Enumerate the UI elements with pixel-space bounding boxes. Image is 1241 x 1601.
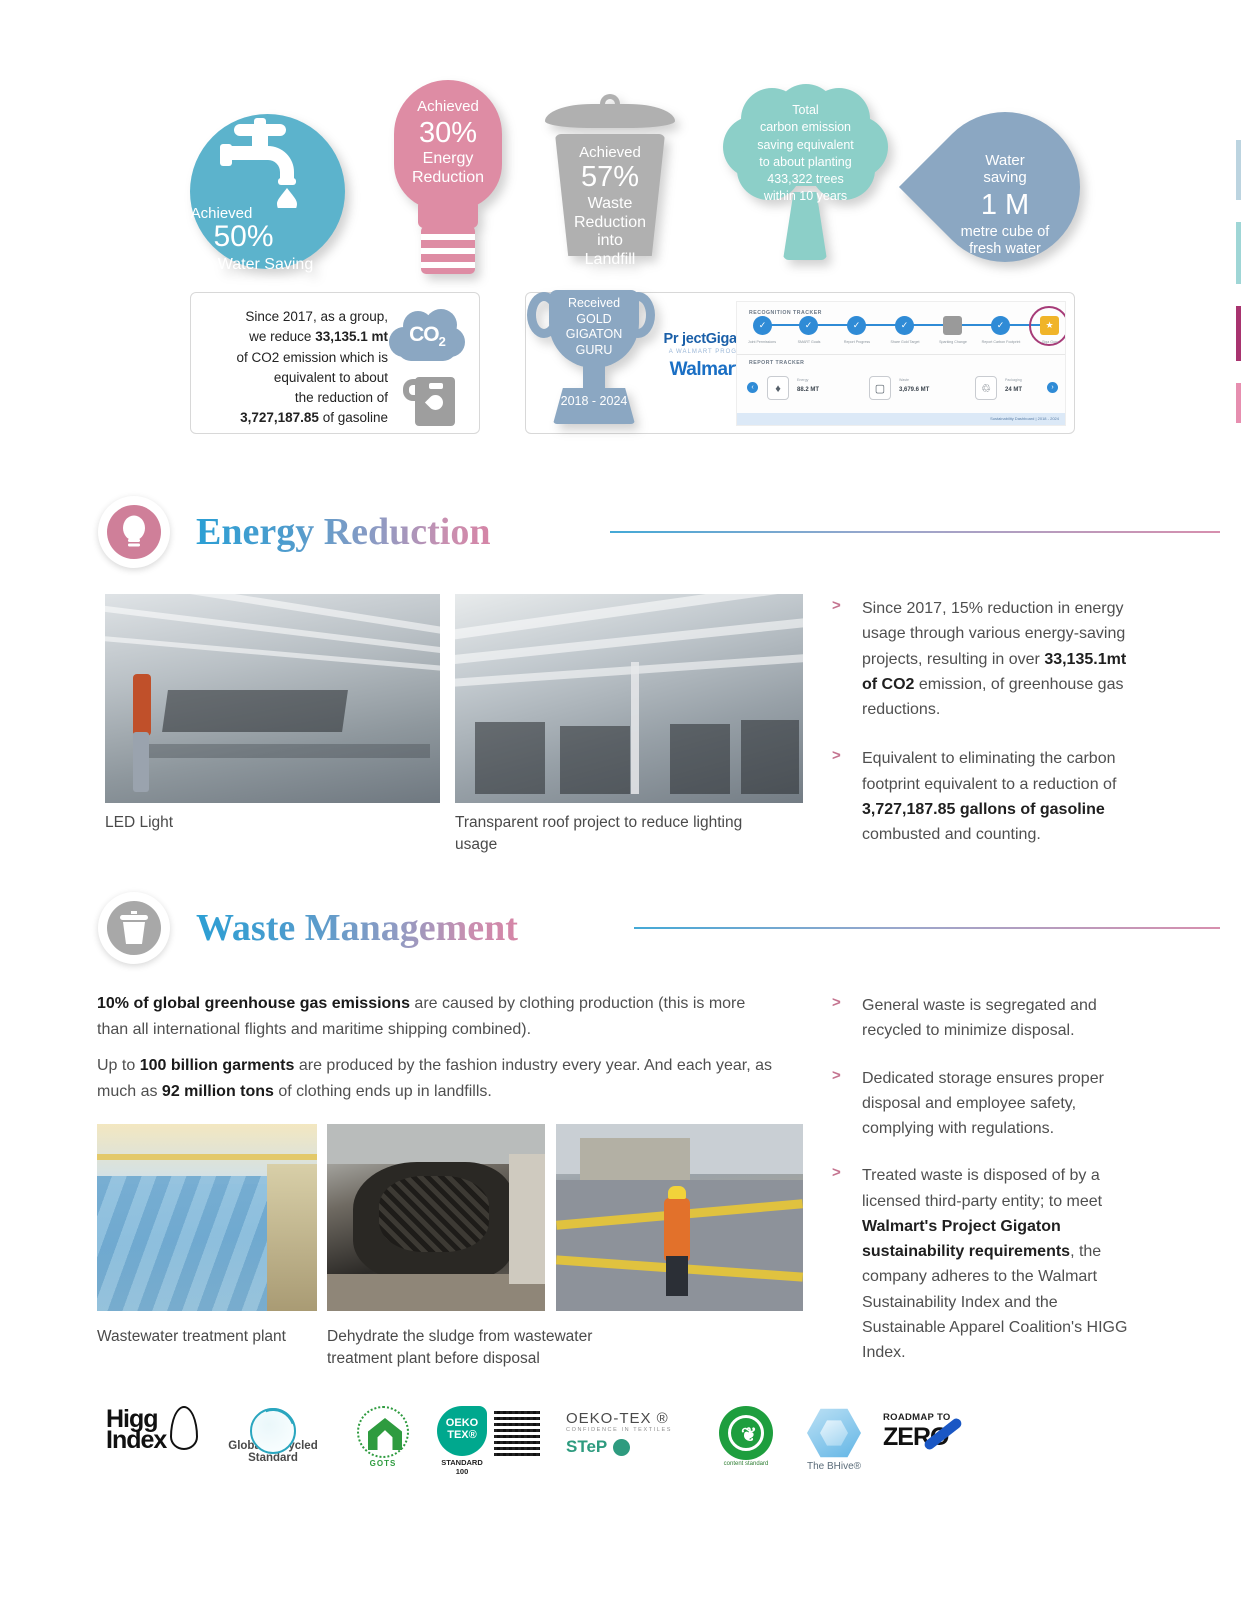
oeko-leaf-icon: OEKO TEX®	[437, 1406, 487, 1456]
trophy-line-1: Received	[549, 296, 639, 312]
bullet-marker-icon: >	[832, 597, 841, 614]
co2-line-4: equivalent to about	[203, 368, 388, 388]
co2-line-3: of CO2 emission which is	[203, 348, 388, 368]
gots-word: GOTS	[348, 1459, 418, 1468]
tracker-step-2[interactable]: ✓	[847, 316, 866, 335]
faucet-glyph	[220, 118, 316, 208]
para-text: of clothing ends up in landfills.	[274, 1083, 492, 1100]
hero-line-1: Total	[723, 102, 888, 119]
tracker-label-6: Giga Guru	[1023, 340, 1066, 344]
standard-word: STANDARD	[433, 1458, 491, 1467]
para-text: Up to	[97, 1057, 140, 1074]
caption-transparent-roof: Transparent roof project to reduce light…	[455, 812, 745, 857]
hero-drop-text: Water saving 1 M metre cube of fresh wat…	[930, 152, 1080, 257]
co2-line-2-value: 33,135.1 mt	[315, 329, 388, 344]
bulb-base	[421, 226, 475, 274]
bin-lid	[545, 104, 675, 128]
caption-led-light: LED Light	[105, 812, 425, 834]
bullet-marker-icon: >	[832, 1164, 841, 1181]
co2-gasoline-value: 3,727,187.85	[240, 410, 319, 425]
transparent-roof-photo	[455, 594, 803, 803]
list-item: > Treated waste is disposed of by a lice…	[826, 1163, 1138, 1365]
sludge-dehydration-photo	[327, 1124, 545, 1311]
report-energy-icon: ♦	[767, 376, 789, 400]
bhive-logo: The BHive®	[798, 1406, 870, 1472]
section-rule	[610, 531, 1220, 533]
report-energy-value: 88.2 MT	[797, 387, 819, 393]
bullet-part-bold: 3,727,187.85 gallons of gasoline	[862, 801, 1105, 818]
page-title-energy: Energy Reduction	[196, 510, 491, 554]
hero-line-3: saving equivalent	[723, 137, 888, 154]
trophy-years: 2018 - 2024	[553, 394, 635, 408]
hero-value: 57%	[545, 161, 675, 195]
wastewater-treatment-photo	[97, 1124, 317, 1311]
list-item: > Dedicated storage ensures proper dispo…	[826, 1066, 1138, 1142]
bullet-part: , the company adheres to the Walmart Sus…	[862, 1243, 1127, 1361]
hero-carbon-trees: Total carbon emission saving equivalent …	[723, 84, 888, 259]
worker-walkway-photo	[556, 1124, 803, 1311]
hero-line-label4: Landfill	[545, 251, 675, 270]
can-cap	[429, 383, 443, 389]
higg-index-logo: Higg Index	[106, 1408, 206, 1453]
grs-globe-icon	[250, 1408, 296, 1454]
bulb-neck	[418, 200, 478, 228]
certification-logos-row: Higg Index Global Recycled Standard GOTS…	[98, 1400, 998, 1472]
trophy-line-4: GURU	[549, 343, 639, 359]
recognition-tracker-title: RECOGNITION TRACKER	[749, 310, 822, 316]
report-energy-label: Energy	[797, 378, 808, 382]
hero-water-saving: Achieved 50% Water Saving	[190, 114, 345, 269]
oeko-tex-standard100-logo: OEKO TEX® STANDARD 100	[433, 1406, 491, 1476]
gigaton-award-card: Received GOLD GIGATON GURU 2018 - 2024 P…	[525, 292, 1075, 434]
tracker-step-1[interactable]: ✓	[799, 316, 818, 335]
co2-line-2: we reduce 33,135.1 mt	[203, 327, 388, 347]
tracker-label-5: Report Carbon Footprint	[974, 340, 1028, 344]
dashboard-divider	[737, 354, 1066, 355]
gots-circle-icon	[357, 1406, 409, 1458]
report-tracker-row: ‹ ♦ Energy 88.2 MT ▢ Waste 3,679.6 MT ♲ …	[747, 374, 1059, 408]
dashboard-footer: Sustainability Dashboard | 2018 - 2024	[737, 413, 1066, 425]
report-waste-icon: ▢	[869, 376, 891, 400]
report-packaging-label: Packaging	[1005, 378, 1022, 382]
oeko-tex-tagline: CONFIDENCE IN TEXTILES	[566, 1427, 701, 1433]
hero-waste-reduction: Achieved 57% Waste Reduction into Landfi…	[545, 82, 675, 257]
hero-line-label3: into	[545, 232, 675, 251]
bullet-text: General waste is segregated and recycled…	[862, 997, 1097, 1039]
para-bold: 100 billion garments	[140, 1057, 295, 1074]
co2-line-6-post: of gasoline	[323, 410, 388, 425]
bullet-marker-icon: >	[832, 994, 841, 1011]
para-bold: 10% of global greenhouse gas emissions	[97, 995, 410, 1012]
hero-water-volume: Water saving 1 M metre cube of fresh wat…	[930, 80, 1080, 265]
bullet-marker-icon: >	[832, 1067, 841, 1084]
step-globe-icon	[613, 1439, 630, 1456]
step-word: STeP	[566, 1437, 607, 1457]
waste-paragraph-1: 10% of global greenhouse gas emissions a…	[97, 991, 769, 1042]
tracker-step-4[interactable]	[943, 316, 962, 335]
tree-icon: Total carbon emission saving equivalent …	[723, 84, 888, 259]
report-next-arrow[interactable]: ›	[1047, 382, 1058, 393]
bin-glyph	[118, 911, 150, 945]
gots-arrows-glyph	[368, 1418, 402, 1450]
bhive-hex-icon	[807, 1406, 861, 1460]
bullet-marker-icon: >	[832, 747, 841, 764]
co2-subscript: 2	[439, 334, 445, 349]
co2-cloud-label: CO2	[389, 323, 465, 349]
caption-sludge: Dehydrate the sludge from wastewater tre…	[327, 1326, 597, 1371]
report-prev-arrow[interactable]: ‹	[747, 382, 758, 393]
hero-line-3: metre cube of	[930, 224, 1080, 241]
hero-line-label2: Reduction	[545, 214, 675, 233]
walmart-text: Walmart	[670, 359, 741, 380]
roadmap-word: ROADMAP TO	[883, 1412, 1003, 1423]
hero-line-label2: Reduction	[388, 169, 508, 188]
edge-tab	[1236, 383, 1241, 423]
tex-word: TEX®	[437, 1430, 487, 1442]
list-item: > General waste is segregated and recycl…	[826, 993, 1138, 1044]
bhive-word: The BHive®	[798, 1461, 870, 1472]
bullet-text: Dedicated storage ensures proper disposa…	[862, 1070, 1104, 1138]
co2-line-1: Since 2017, as a group,	[203, 307, 388, 327]
lightbulb-icon	[107, 505, 161, 559]
tracker-label-1: SMART Goals	[782, 340, 836, 344]
tracker-step-0[interactable]: ✓	[753, 316, 772, 335]
hero-line-label: Energy	[388, 150, 508, 169]
section-rule	[634, 927, 1220, 929]
report-packaging-value: 24 MT	[1005, 387, 1022, 393]
section-header-energy: Energy Reduction	[98, 496, 1138, 576]
bullet-part: Treated waste is disposed of by a licens…	[862, 1167, 1102, 1209]
trash-bin-icon	[107, 901, 161, 955]
tracker-label-3: Share Gold Target	[878, 340, 932, 344]
report-packaging-icon: ♲	[975, 376, 997, 400]
hero-line-label: Waste	[545, 195, 675, 214]
hero-value: 30%	[388, 116, 508, 150]
global-recycled-standard-logo: Global Recycled Standard	[218, 1408, 328, 1464]
hero-line-achieved: Achieved	[388, 98, 508, 116]
co2-card-text: Since 2017, as a group, we reduce 33,135…	[203, 307, 388, 429]
hero-line-1: Water	[930, 152, 1080, 169]
oeko-tex-word: OEKO-TEX ®	[566, 1410, 701, 1427]
hero-line-4: to about planting	[723, 154, 888, 171]
oeko-word: OEKO	[437, 1418, 487, 1430]
hero-line-achieved: Achieved	[545, 144, 675, 161]
led-light-photo	[105, 594, 440, 803]
trophy-line-3: GIGATON	[549, 327, 639, 343]
trash-bin-icon: Achieved 57% Waste Reduction into Landfi…	[545, 82, 675, 257]
tracker-label-2: Report Progress	[830, 340, 884, 344]
list-item: > Equivalent to eliminating the carbon f…	[826, 746, 1136, 847]
co2-line-6: 3,727,187.85 of gasoline	[203, 408, 388, 428]
energy-bullets: > Since 2017, 15% reduction in energy us…	[826, 596, 1136, 867]
trophy-line-2: GOLD	[549, 312, 639, 328]
co2-cloud-icon: CO2	[389, 309, 465, 365]
organic-100-seal-icon: ❦	[719, 1406, 773, 1460]
report-tracker-title: REPORT TRACKER	[749, 360, 804, 366]
trophy-label: Received GOLD GIGATON GURU	[549, 296, 639, 359]
bullet-text: Since 2017, 15% reduction in energy usag…	[862, 600, 1126, 718]
report-waste-label: Waste	[899, 378, 909, 382]
oeko-tex-step-logo: OEKO-TEX ® CONFIDENCE IN TEXTILES STeP	[566, 1410, 701, 1457]
organic-100-content-standard-logo: ❦ content standard	[716, 1406, 776, 1467]
bullet-part: combusted and counting.	[862, 826, 1041, 843]
oeko-qr-code	[494, 1410, 540, 1456]
bullet-text: Treated waste is disposed of by a licens…	[862, 1167, 1127, 1361]
report-waste-value: 3,679.6 MT	[899, 387, 929, 393]
trophy-icon: Received GOLD GIGATON GURU 2018 - 2024	[521, 290, 666, 425]
gots-logo: GOTS	[348, 1406, 418, 1468]
tracker-step-3[interactable]: ✓	[895, 316, 914, 335]
tracker-label-4: Sparking Change	[926, 340, 980, 344]
co2-text: CO	[409, 323, 439, 346]
hero-line-2: saving	[930, 169, 1080, 186]
list-item: > Since 2017, 15% reduction in energy us…	[826, 596, 1136, 722]
co2-line-2-pre: we reduce	[249, 329, 311, 344]
caption-wastewater: Wastewater treatment plant	[97, 1326, 327, 1348]
trophy-stem	[583, 364, 605, 390]
bullet-part-bold: Walmart's Project Gigaton sustainability…	[862, 1218, 1070, 1260]
hero-stats-row: Achieved 50% Water Saving Achieved 30% E…	[0, 60, 1241, 275]
co2-line-5: the reduction of	[203, 388, 388, 408]
faucet-icon: Achieved 50% Water Saving	[190, 114, 345, 269]
gigaton-dashboard-screenshot: RECOGNITION TRACKER ✓ ✓ ✓ ✓ ✓ ★ Joint Pe…	[736, 301, 1066, 426]
hero-value: 1 M	[930, 189, 1080, 222]
waste-bullets: > General waste is segregated and recycl…	[826, 993, 1138, 1385]
sustainability-report-page: Achieved 50% Water Saving Achieved 30% E…	[0, 0, 1241, 1601]
para-bold: 92 million tons	[162, 1083, 274, 1100]
waste-paragraph-2: Up to 100 billion garments are produced …	[97, 1053, 777, 1104]
hero-line-2: carbon emission	[723, 119, 888, 136]
co2-reduction-card: Since 2017, as a group, we reduce 33,135…	[190, 292, 480, 434]
hero-line-5: 433,322 trees	[723, 171, 888, 188]
bulb-glyph	[119, 515, 149, 549]
gasoline-can-icon	[403, 371, 455, 426]
water-drop-icon: Water saving 1 M metre cube of fresh wat…	[930, 80, 1080, 265]
roadmap-to-zero-logo: ROADMAP TO ZERO	[883, 1412, 1003, 1452]
tracker-step-5[interactable]: ✓	[991, 316, 1010, 335]
section-header-waste: Waste Management	[98, 892, 1138, 972]
page-title-waste: Waste Management	[196, 906, 518, 950]
leaf-glyph: ❦	[741, 1424, 757, 1447]
edge-tab	[1236, 306, 1241, 361]
hero-line-4: fresh water	[930, 241, 1080, 258]
bullet-text: Equivalent to eliminating the carbon foo…	[862, 750, 1116, 843]
organic-label: content standard	[716, 1461, 776, 1467]
bullet-part: Equivalent to eliminating the carbon foo…	[862, 750, 1116, 792]
hero-line-6: within 10 years	[723, 188, 888, 205]
standard-number: 100	[433, 1467, 491, 1476]
hero-energy-reduction: Achieved 30% Energy Reduction	[388, 80, 508, 280]
hero-line-label: Water Saving	[188, 256, 343, 274]
lightbulb-icon: Achieved 30% Energy Reduction	[388, 80, 508, 280]
hero-value: 50%	[166, 220, 321, 254]
